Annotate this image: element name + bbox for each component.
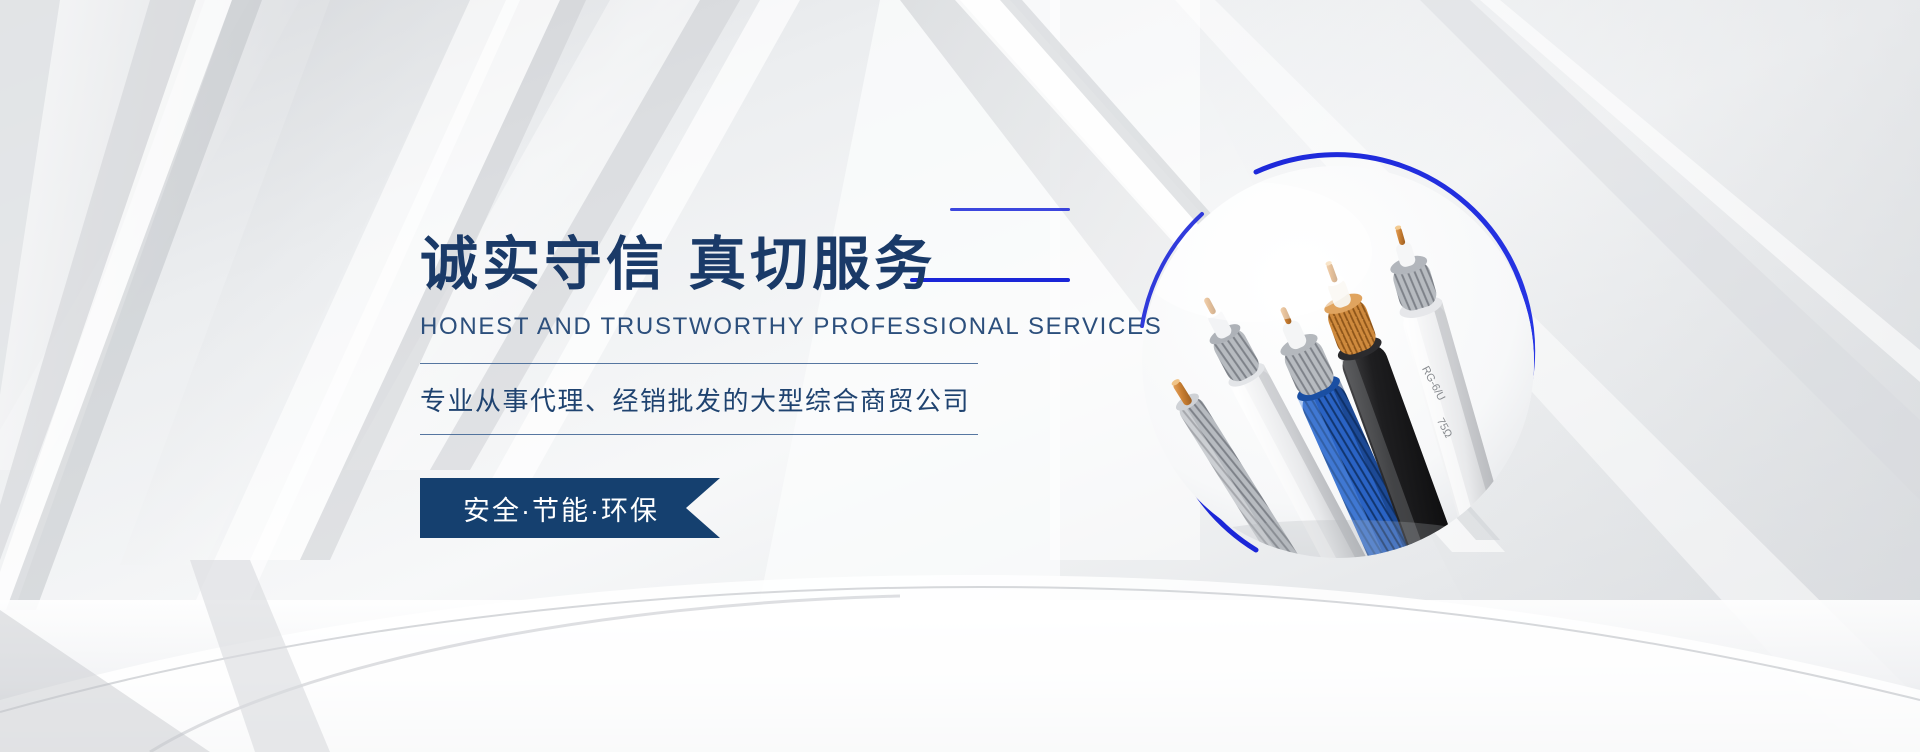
product-medallion: RG-6/U 75Ω — [1128, 152, 1548, 572]
feature-badge: 安全·节能·环保 — [420, 478, 720, 538]
page-title: 诚实守信 真切服务 — [420, 232, 1060, 299]
product-photo: RG-6/U 75Ω — [1142, 166, 1534, 558]
feature-badge-ribbon: 安全·节能·环保 — [420, 478, 720, 538]
promo-banner: 诚实守信 真切服务 HONEST AND TRUSTWORTHY PROFESS… — [0, 0, 1920, 752]
divider-top — [420, 363, 978, 364]
banner-text-block: 诚实守信 真切服务 HONEST AND TRUSTWORTHY PROFESS… — [420, 232, 1060, 435]
coaxial-cable-bundle-icon: RG-6/U 75Ω — [1142, 166, 1534, 558]
feature-badge-label: 安全·节能·环保 — [463, 489, 659, 528]
subtitle-english: HONEST AND TRUSTWORTHY PROFESSIONAL SERV… — [420, 313, 1060, 341]
tagline: 专业从事代理、经销批发的大型综合商贸公司 — [420, 381, 1060, 418]
divider-bottom — [420, 434, 978, 435]
